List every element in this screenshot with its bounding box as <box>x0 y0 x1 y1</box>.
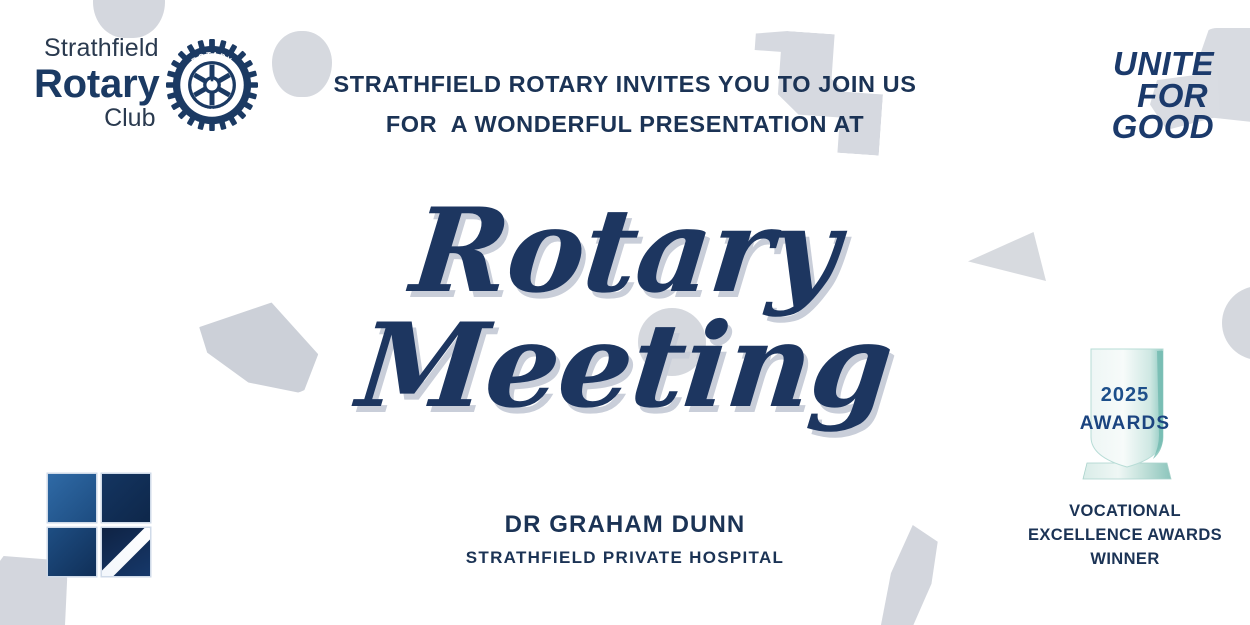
strathfield-rotary-club-logo: Strathfield Rotary Club <box>34 36 258 131</box>
award-caption-line-3: WINNER <box>1010 548 1240 572</box>
square-bottom-right <box>102 528 150 576</box>
club-name-line1: Strathfield <box>44 36 160 61</box>
flyer-canvas: Strathfield Rotary Club <box>0 0 1250 625</box>
square-top-right <box>102 474 150 522</box>
unite-line-2: FOR <box>1112 80 1214 112</box>
square-top-left <box>48 474 96 522</box>
rotary-wheel-icon: ROTARY INTERNATIONAL <box>166 39 258 131</box>
four-squares-logo <box>48 474 150 576</box>
award-caption-line-1: VOCATIONAL <box>1010 500 1240 524</box>
square-bottom-left <box>48 528 96 576</box>
club-name-line3: Club <box>34 106 156 131</box>
headline-line-2: FOR A WONDERFUL PRESENTATION AT <box>245 104 1005 144</box>
unite-for-good-slogan: UNITE FOR GOOD <box>1112 48 1214 143</box>
event-title-line-1: Rotary <box>0 196 1250 307</box>
headline-line-1: STRATHFIELD ROTARY INVITES YOU TO JOIN U… <box>245 64 1005 104</box>
club-name-line2: Rotary <box>34 64 160 104</box>
unite-line-3: GOOD <box>1112 111 1214 143</box>
decor-blob-top-left <box>93 0 165 38</box>
event-title-line-2: Meeting <box>0 311 1250 422</box>
club-wordmark: Strathfield Rotary Club <box>34 36 160 131</box>
award-caption: VOCATIONAL EXCELLENCE AWARDS WINNER <box>1010 500 1240 572</box>
event-title: Rotary Meeting <box>0 196 1250 423</box>
unite-line-1: UNITE <box>1112 48 1214 80</box>
headline: STRATHFIELD ROTARY INVITES YOU TO JOIN U… <box>245 64 1005 145</box>
award-caption-line-2: EXCELLENCE AWARDS <box>1010 524 1240 548</box>
